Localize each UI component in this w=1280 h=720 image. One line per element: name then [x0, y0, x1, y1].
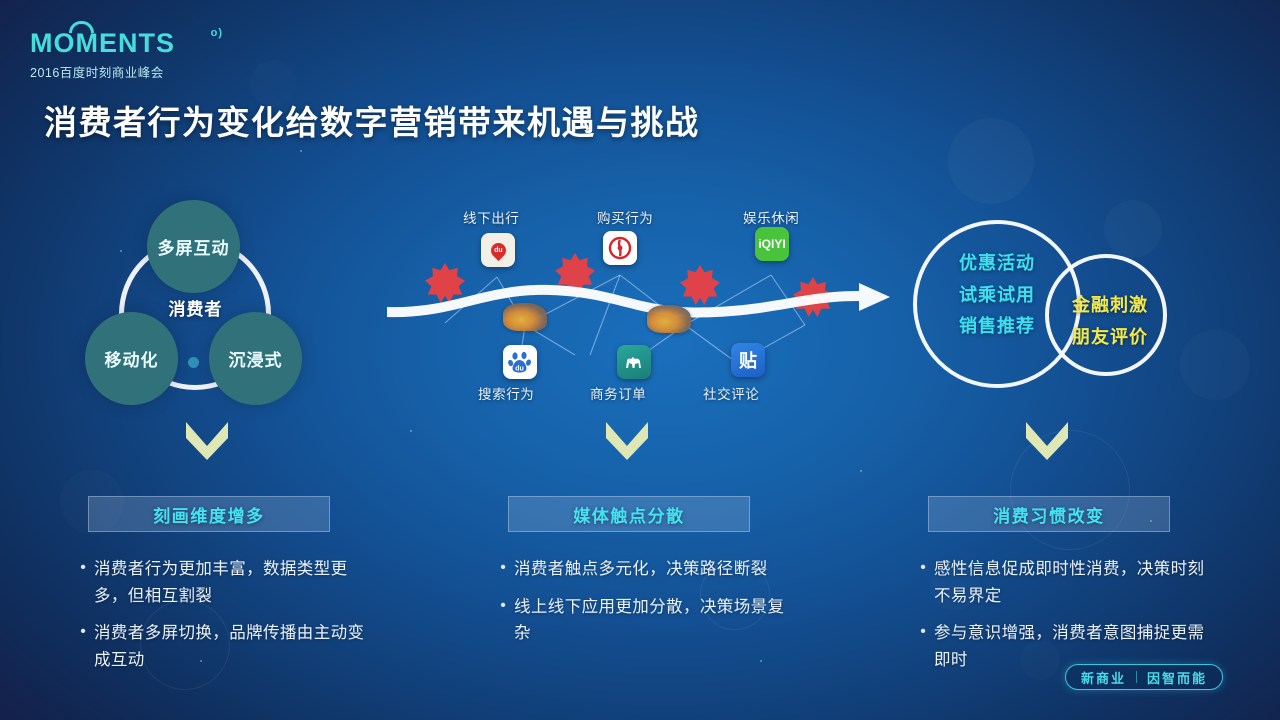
- chevron-down-icon: [184, 420, 230, 462]
- logo-arc-icon: [69, 21, 94, 33]
- bullet-mark: •: [912, 556, 934, 609]
- tieba-icon: 贴: [731, 343, 765, 377]
- logo-word-text: MOMENTS: [30, 28, 175, 58]
- venn-center-label: 消费者: [143, 295, 248, 320]
- tagline-right-text: 因智而能: [1147, 668, 1207, 687]
- chevron-down-icon: [1024, 420, 1070, 462]
- touchpoint-label-search: 搜索行为: [478, 383, 534, 403]
- venn-circle-multiscreen: 多屏互动: [147, 200, 240, 293]
- tagline-left-text: 新商业: [1081, 668, 1126, 687]
- bullet-mark: •: [912, 620, 934, 673]
- venn-right-line-2: 朋友评价: [1065, 322, 1155, 354]
- section-banner-touchpoints: 媒体触点分散: [508, 496, 750, 532]
- list-item: • 消费者多屏切换，品牌传播由主动变成互动: [72, 620, 372, 673]
- left-venn-diagram: 多屏互动 移动化 沉浸式 消费者: [85, 200, 335, 415]
- qunar-camel-icon: [617, 345, 651, 379]
- venn-left-text-group: 优惠活动 试乘试用 销售推荐: [937, 248, 1057, 343]
- venn-left-line-2: 试乘试用: [937, 280, 1057, 312]
- bullet-text: 消费者触点多元化，决策路径断裂: [514, 556, 768, 583]
- bullet-text: 线上线下应用更加分散，决策场景复杂: [514, 594, 792, 647]
- bullet-text: 感性信息促成即时性消费，决策时刻不易界定: [934, 556, 1212, 609]
- list-item: • 线上线下应用更加分散，决策场景复杂: [492, 594, 792, 647]
- consumer-journey-wave-arrow: [385, 265, 895, 335]
- venn-right-text-group: 金融刺激 朋友评价: [1065, 290, 1155, 353]
- bullet-text: 消费者行为更加丰富，数据类型更多，但相互割裂: [94, 556, 372, 609]
- venn-left-line-1: 优惠活动: [937, 248, 1057, 280]
- iqiyi-icon: iQIYI: [755, 227, 789, 261]
- baidu-maps-icon: du: [481, 233, 515, 267]
- slide-canvas: MOMENTS o) 2016百度时刻商业峰会 消费者行为变化给数字营销带来机遇…: [0, 0, 1280, 720]
- touchpoint-label-business-order: 商务订单: [590, 383, 646, 403]
- crowd-cluster-icon: [503, 303, 547, 331]
- bullet-mark: •: [72, 620, 94, 673]
- touchpoint-label-purchase: 购买行为: [597, 207, 653, 227]
- list-item: • 消费者触点多元化，决策路径断裂: [492, 556, 792, 583]
- logo-subtitle: 2016百度时刻商业峰会: [30, 62, 210, 81]
- crowd-cluster-icon: [647, 305, 691, 333]
- bullet-mark: •: [72, 556, 94, 609]
- touchpoint-label-social-comment: 社交评论: [703, 383, 759, 403]
- bullet-column-2: • 消费者触点多元化，决策路径断裂 • 线上线下应用更加分散，决策场景复杂: [492, 556, 792, 658]
- page-title: 消费者行为变化给数字营销带来机遇与挑战: [44, 96, 700, 144]
- section-banner-habits: 消费习惯改变: [928, 496, 1170, 532]
- event-logo: MOMENTS o) 2016百度时刻商业峰会: [30, 30, 210, 81]
- media-touchpoint-flow: 线下出行 购买行为 娱乐休闲 du iQIYI du: [385, 205, 895, 405]
- bullet-mark: •: [492, 556, 514, 583]
- venn-right-line-1: 金融刺激: [1065, 290, 1155, 322]
- venn-circle-immersive: 沉浸式: [209, 312, 302, 405]
- bullet-mark: •: [492, 594, 514, 647]
- logo-wordmark: MOMENTS o): [30, 30, 210, 57]
- venn-center-dot-icon: [188, 357, 199, 368]
- baidu-search-icon: du: [503, 345, 537, 379]
- chevron-down-icon: [604, 420, 650, 462]
- logo-signal-icon: o): [211, 28, 223, 39]
- tagline-badge: 新商业 因智而能: [1065, 664, 1223, 690]
- venn-circle-mobile: 移动化: [85, 312, 178, 405]
- section-banner-dimensions: 刻画维度增多: [88, 496, 330, 532]
- bullet-text: 消费者多屏切换，品牌传播由主动变成互动: [94, 620, 372, 673]
- list-item: • 感性信息促成即时性消费，决策时刻不易界定: [912, 556, 1212, 609]
- right-venn-diagram: 优惠活动 试乘试用 销售推荐 金融刺激 朋友评价: [905, 218, 1195, 408]
- nuomi-icon: [603, 231, 637, 265]
- tagline-separator: [1136, 671, 1137, 683]
- bullet-column-1: • 消费者行为更加丰富，数据类型更多，但相互割裂 • 消费者多屏切换，品牌传播由…: [72, 556, 372, 685]
- venn-left-line-3: 销售推荐: [937, 311, 1057, 343]
- svg-text:du: du: [515, 366, 524, 373]
- list-item: • 消费者行为更加丰富，数据类型更多，但相互割裂: [72, 556, 372, 609]
- touchpoint-label-offline-travel: 线下出行: [463, 207, 519, 227]
- touchpoint-label-entertainment: 娱乐休闲: [743, 207, 799, 227]
